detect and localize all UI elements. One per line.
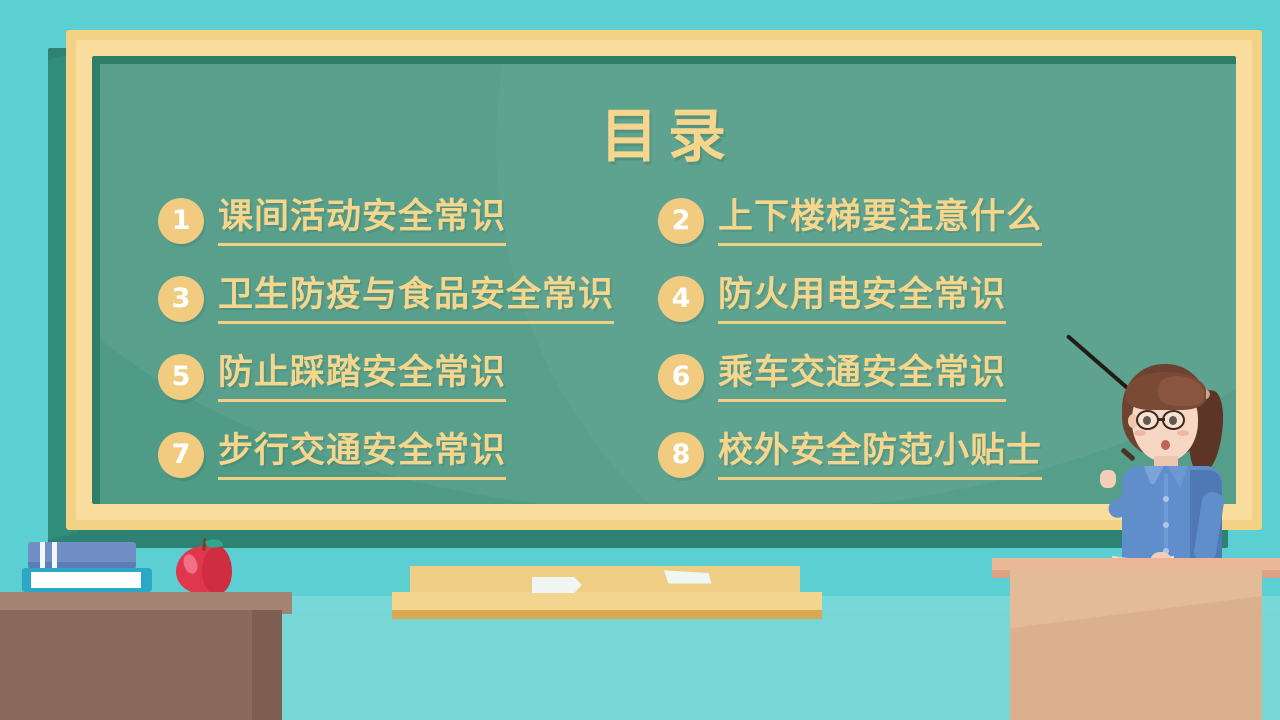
pointer-grip bbox=[1120, 447, 1135, 461]
toc-item-2[interactable]: 2 上下楼梯要注意什么 bbox=[658, 182, 1188, 260]
chalk-tray-edge bbox=[392, 610, 822, 619]
toc-item-label: 防火用电安全常识 bbox=[718, 274, 1006, 324]
toc-item-label: 卫生防疫与食品安全常识 bbox=[218, 274, 614, 324]
book-bookmark bbox=[52, 542, 57, 568]
table-of-contents: 1 课间活动安全常识 2 上下楼梯要注意什么 3 卫生防疫与食品安全常识 4 防… bbox=[158, 182, 1188, 494]
chalkboard: 目录 1 课间活动安全常识 2 上下楼梯要注意什么 3 卫生防疫与食品安全常识 bbox=[48, 30, 1233, 530]
toc-item-4[interactable]: 4 防火用电安全常识 bbox=[658, 260, 1188, 338]
stacked-books-icon bbox=[22, 528, 152, 594]
toc-item-label: 步行交通安全常识 bbox=[218, 430, 506, 480]
classroom-scene: 目录 1 课间活动安全常识 2 上下楼梯要注意什么 3 卫生防疫与食品安全常识 bbox=[0, 0, 1280, 720]
toc-item-label: 课间活动安全常识 bbox=[218, 196, 506, 246]
toc-number-badge: 6 bbox=[658, 354, 704, 400]
book-bottom-pages bbox=[31, 572, 141, 588]
glasses-icon bbox=[1136, 410, 1159, 430]
toc-number-badge: 3 bbox=[158, 276, 204, 322]
student-desk-side bbox=[252, 610, 282, 720]
student-desk-body bbox=[0, 610, 282, 720]
toc-number-badge: 1 bbox=[158, 198, 204, 244]
apple-icon bbox=[176, 538, 232, 594]
teacher-shirt-button bbox=[1163, 496, 1169, 502]
toc-item-5[interactable]: 5 防止踩踏安全常识 bbox=[158, 338, 658, 416]
toc-item-label: 校外安全防范小贴士 bbox=[718, 430, 1042, 480]
teacher-hand-holding-pointer bbox=[1100, 470, 1116, 488]
toc-number-badge: 2 bbox=[658, 198, 704, 244]
teacher-mouth bbox=[1161, 440, 1170, 450]
toc-item-1[interactable]: 1 课间活动安全常识 bbox=[158, 182, 658, 260]
chalk-piece-icon[interactable] bbox=[532, 577, 582, 593]
toc-number-badge: 8 bbox=[658, 432, 704, 478]
apple-body-shade bbox=[202, 546, 232, 594]
toc-number-badge: 7 bbox=[158, 432, 204, 478]
glasses-bridge bbox=[1158, 418, 1165, 421]
toc-item-7[interactable]: 7 步行交通安全常识 bbox=[158, 416, 658, 494]
chalkboard-surface: 目录 1 课间活动安全常识 2 上下楼梯要注意什么 3 卫生防疫与食品安全常识 bbox=[100, 64, 1236, 504]
toc-item-label: 上下楼梯要注意什么 bbox=[718, 196, 1042, 246]
teacher-shirt-button bbox=[1163, 522, 1169, 528]
toc-number-badge: 5 bbox=[158, 354, 204, 400]
teacher-blush bbox=[1177, 430, 1189, 436]
chalkboard-content: 目录 1 课间活动安全常识 2 上下楼梯要注意什么 3 卫生防疫与食品安全常识 bbox=[100, 64, 1236, 504]
teacher-blush bbox=[1134, 430, 1146, 436]
book-bookmark bbox=[40, 542, 45, 568]
page-title: 目录 bbox=[100, 106, 1236, 166]
glasses-icon bbox=[1162, 410, 1185, 430]
toc-item-label: 防止踩踏安全常识 bbox=[218, 352, 506, 402]
toc-item-3[interactable]: 3 卫生防疫与食品安全常识 bbox=[158, 260, 658, 338]
toc-item-label: 乘车交通安全常识 bbox=[718, 352, 1006, 402]
toc-number-badge: 4 bbox=[658, 276, 704, 322]
